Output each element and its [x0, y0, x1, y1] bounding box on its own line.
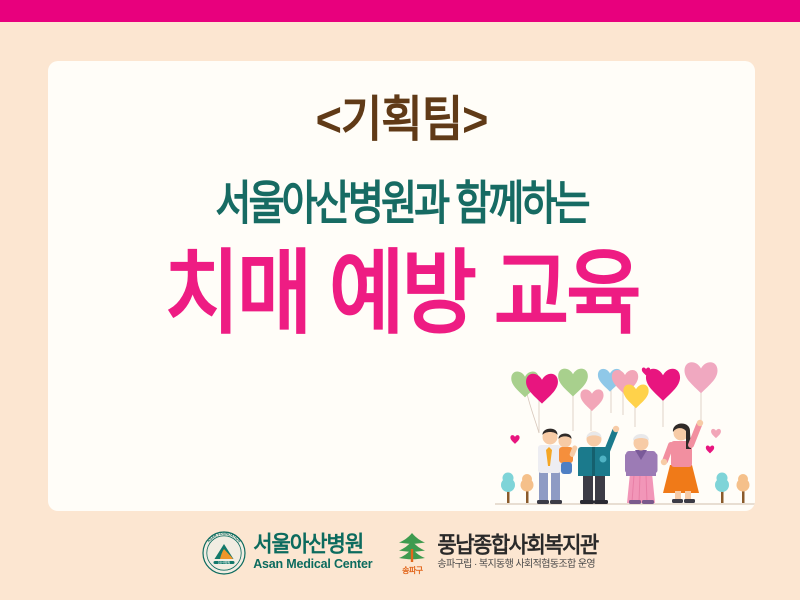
songpa-emblem-wrap: 송파구 [394, 530, 430, 576]
poster-card: <기획팀> 서울아산병원과 함께하는 치매 예방 교육 [48, 61, 755, 511]
asan-logo-text: 서울아산병원 Asan Medical Center [253, 534, 372, 571]
figure-young-woman [661, 420, 703, 503]
songpa-badge: 송파구 [402, 565, 423, 576]
pungnap-logo-text: 풍납종합사회복지관 송파구립 · 복지동행 사회적협동조합 운영 [437, 535, 597, 571]
page-title: 치매 예방 교육 [48, 249, 755, 341]
logo-asan-medical-center: 아산병원 ASAN FOUNDATION 서울아산병원 Asan Medical… [202, 531, 372, 575]
asan-name-kr: 서울아산병원 [253, 534, 372, 557]
figure-elderly-man [578, 426, 619, 504]
asan-foundation-emblem: 아산병원 ASAN FOUNDATION [202, 531, 246, 575]
figure-father-with-child [537, 429, 578, 504]
team-tag: <기획팀> [48, 95, 755, 144]
songpa-pine-tree-emblem [394, 530, 430, 564]
pungnap-name-kr: 풍납종합사회복지관 [437, 535, 597, 558]
figure-elderly-woman [625, 434, 658, 504]
logo-pungnap-welfare-center: 송파구 풍납종합사회복지관 송파구립 · 복지동행 사회적협동조합 운영 [394, 530, 597, 576]
poster-subtitle: 서울아산병원과 함께하는 [55, 180, 748, 227]
decorative-trees [501, 473, 750, 504]
footer-logos: 아산병원 ASAN FOUNDATION 서울아산병원 Asan Medical… [0, 518, 800, 588]
family-illustration [495, 361, 755, 511]
svg-text:아산병원: 아산병원 [218, 560, 230, 565]
top-accent-bar [0, 0, 800, 22]
pungnap-subtitle: 송파구립 · 복지동행 사회적협동조합 운영 [437, 560, 597, 571]
asan-name-en: Asan Medical Center [253, 558, 372, 571]
poster-text-block: <기획팀> 서울아산병원과 함께하는 치매 예방 교육 [48, 61, 755, 336]
